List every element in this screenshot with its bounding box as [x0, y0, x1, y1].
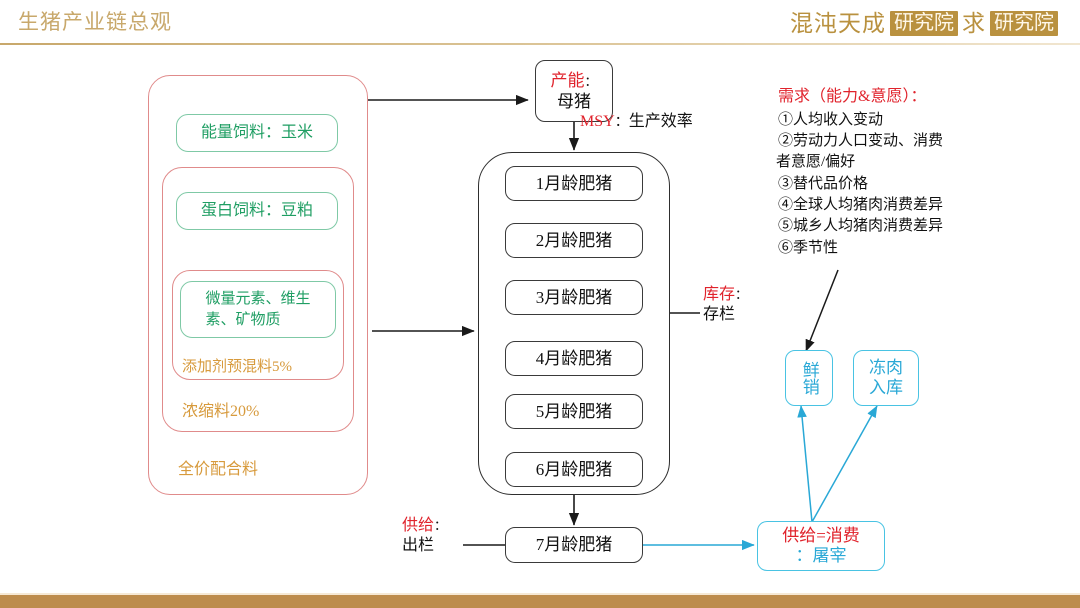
page-header: 生猪产业链总观 混沌天成 研究院 求 研究院 — [0, 0, 1080, 47]
stage-month-3: 3月龄肥猪 — [505, 280, 643, 315]
msy-colon: ： — [615, 115, 629, 130]
frozen-storage-box: 冻肉入库 — [853, 350, 919, 406]
supply-annotation: 供给： 出栏 — [402, 516, 447, 556]
stage-month-3-label: 3月龄肥猪 — [536, 288, 613, 308]
capacity-value: 母猪 — [557, 92, 591, 112]
inventory-label-red: 库存 — [703, 286, 735, 303]
demand-item-4: ④全球人均猪肉消费差异 — [778, 195, 1018, 216]
stage-month-1-label: 1月龄肥猪 — [536, 174, 613, 194]
stage-month-7-label: 7月龄肥猪 — [536, 535, 613, 555]
msy-label: MSY — [580, 113, 615, 130]
consumption-subtitle: ：屠宰 — [796, 546, 847, 566]
demand-factors-list: 需求（能力&意愿）： ①人均收入变动 ②劳动力人口变动、消费 者意愿/偏好 ③替… — [778, 86, 1018, 259]
feed-item-protein-label: 蛋白饲料：豆粕 — [201, 202, 313, 220]
fresh-sales-label: 鲜销 — [799, 361, 819, 395]
stage-month-4: 4月龄肥猪 — [505, 341, 643, 376]
capacity-title-red: 产能 — [550, 71, 584, 90]
logo-wordmark: 混沌天成 — [790, 12, 886, 35]
supply-colon: ： — [434, 518, 447, 533]
demand-item-6: ⑥季节性 — [778, 238, 1018, 259]
stage-month-2: 2月龄肥猪 — [505, 223, 643, 258]
feed-concentrate-label: 浓缩料20% — [182, 397, 259, 421]
logo-seal-one: 研究院 — [890, 11, 958, 36]
logo-mid-glyph: 求 — [962, 12, 986, 35]
msy-annotation: MSY：生产效率 — [580, 112, 710, 133]
capacity-title: 产能： — [550, 71, 597, 91]
stage-month-7: 7月龄肥猪 — [505, 527, 643, 563]
wire-consumption-to-frozen — [812, 406, 877, 522]
feed-item-micronutrients: 微量元素、维生 素、矿物质 — [180, 281, 336, 338]
consumption-title: 供给=消费 — [782, 526, 860, 546]
fresh-sales-box: 鲜销 — [785, 350, 833, 406]
logo-seal-two: 研究院 — [990, 11, 1058, 36]
fattening-stages-container — [478, 152, 670, 495]
stage-month-2-label: 2月龄肥猪 — [536, 231, 613, 251]
stage-month-4-label: 4月龄肥猪 — [536, 349, 613, 369]
demand-item-2: ②劳动力人口变动、消费 — [778, 131, 1018, 152]
stage-month-6: 6月龄肥猪 — [505, 452, 643, 487]
supply-label-red: 供给 — [402, 517, 434, 534]
demand-item-3: ③替代品价格 — [778, 174, 1018, 195]
feed-complete-label: 全价配合料 — [178, 455, 258, 479]
stage-month-5-label: 5月龄肥猪 — [536, 402, 613, 422]
capacity-title-colon: ： — [584, 74, 597, 89]
demand-title: 需求（能力&意愿）： — [778, 86, 1018, 109]
header-divider — [0, 43, 1080, 45]
feed-item-energy: 能量饲料：玉米 — [176, 114, 338, 152]
wire-demand-to-fresh — [806, 270, 838, 351]
demand-item-1: ①人均收入变动 — [778, 110, 1018, 131]
stage-month-1: 1月龄肥猪 — [505, 166, 643, 201]
wire-consumption-to-fresh — [801, 406, 812, 522]
page-footer — [0, 595, 1080, 608]
feed-item-micronutrients-label: 微量元素、维生 素、矿物质 — [205, 289, 310, 330]
frozen-storage-label: 冻肉入库 — [869, 358, 903, 399]
feed-premix-label: 添加剂预混料5% — [182, 355, 292, 376]
feed-item-energy-label: 能量饲料：玉米 — [201, 124, 313, 142]
msy-description: 生产效率 — [629, 113, 693, 130]
stage-month-5: 5月龄肥猪 — [505, 394, 643, 429]
brand-logo: 混沌天成 研究院 求 研究院 — [790, 6, 1058, 40]
consumption-box: 供给=消费 ：屠宰 — [757, 521, 885, 571]
stage-month-6-label: 6月龄肥猪 — [536, 460, 613, 480]
inventory-label-black: 存栏 — [703, 306, 735, 323]
supply-label-black: 出栏 — [402, 537, 434, 554]
inventory-colon: ： — [735, 287, 748, 302]
inventory-annotation: 库存： 存栏 — [703, 285, 748, 325]
feed-item-protein: 蛋白饲料：豆粕 — [176, 192, 338, 230]
demand-item-2-cont: 者意愿/偏好 — [776, 152, 1018, 173]
demand-item-5: ⑤城乡人均猪肉消费差异 — [778, 216, 1018, 237]
page-title: 生猪产业链总观 — [18, 6, 172, 36]
